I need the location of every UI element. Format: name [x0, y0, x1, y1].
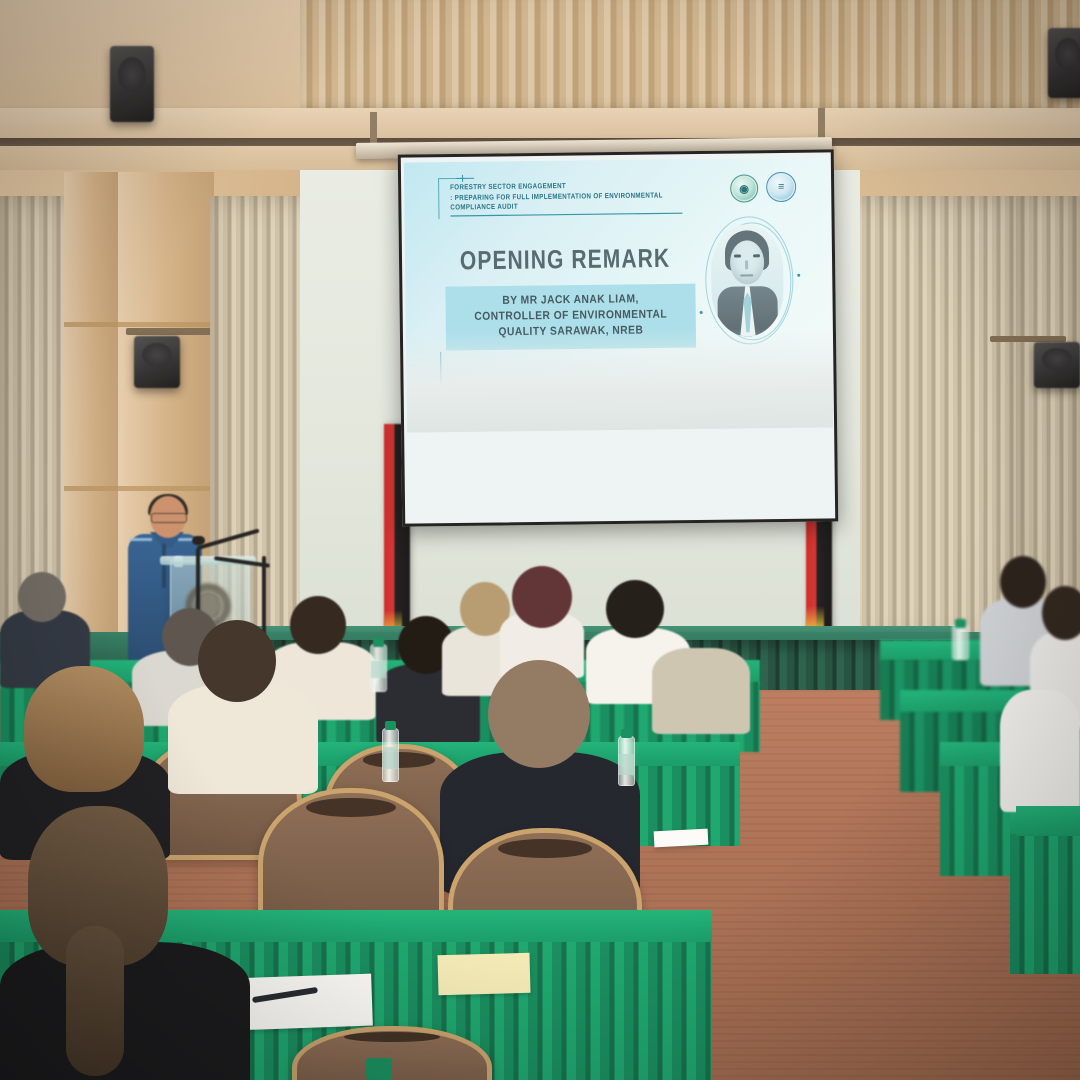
mineral-water-bottle — [382, 728, 399, 782]
slide-header: FORESTRY SECTOR ENGAGEMENT : PREPARING F… — [450, 180, 710, 216]
audience-table-skirt — [1010, 834, 1080, 974]
chair-handle-slot — [363, 752, 435, 767]
projection-screen: FORESTRY SECTOR ENGAGEMENT : PREPARING F… — [398, 149, 839, 526]
audience-member-body — [1000, 690, 1080, 812]
audience-member-foreground — [0, 806, 250, 1080]
wall-mounted-loudspeaker — [110, 46, 154, 122]
audience-member-head — [198, 620, 276, 702]
agency-logo: ≡ — [766, 172, 796, 202]
portrait-of-speaker — [711, 224, 784, 337]
presenter-sleeve-trim — [130, 538, 152, 541]
slide-tick-mark — [456, 178, 474, 180]
bottle-cap — [385, 721, 396, 730]
audience-member-ponytail — [66, 926, 124, 1076]
portrait-eye — [753, 254, 760, 257]
bottle-label — [619, 754, 634, 775]
chair-handle-slot — [306, 798, 395, 817]
yellow-notepad — [437, 953, 530, 995]
audience-member — [168, 620, 318, 790]
wall-mounted-loudspeaker — [134, 336, 180, 388]
portrait-eye — [734, 254, 741, 257]
bottle-label — [383, 747, 398, 769]
agency-logo-glyph: ≡ — [767, 173, 795, 201]
slide-header-line1: FORESTRY SECTOR ENGAGEMENT — [450, 182, 566, 192]
audience-member-head — [18, 572, 66, 622]
mineral-water-bottle — [618, 736, 635, 786]
audience-member — [652, 604, 750, 730]
banquet-chair[interactable] — [292, 1026, 492, 1080]
nreb-logo-glyph: ◉ — [731, 175, 757, 201]
ceiling-beam — [0, 108, 1080, 142]
slide-header-line2: : PREPARING FOR FULL IMPLEMENTATION OF E… — [450, 191, 682, 216]
nreb-logo: ◉ — [730, 174, 758, 202]
bottle-label — [371, 661, 386, 678]
bottle-cap — [621, 729, 632, 738]
chair-handle-slot — [498, 839, 591, 859]
portrait-dot-marker — [700, 311, 703, 314]
audience-member — [500, 566, 584, 674]
chair-handle-slot — [344, 1032, 440, 1042]
glasses-icon — [151, 513, 187, 523]
pilaster-trim — [64, 322, 214, 327]
bottle-cap — [366, 1058, 392, 1080]
white-paper-sheet — [654, 829, 709, 848]
slide-title: OPENING REMARK — [449, 244, 681, 277]
portrait-nose — [745, 260, 748, 269]
audience-member-body — [652, 648, 750, 734]
audience-member-hair — [24, 666, 144, 792]
wall-mounted-loudspeaker — [1048, 28, 1080, 98]
audience-member — [1000, 660, 1080, 810]
slide-lower-fade — [406, 327, 833, 432]
right-foreground-table — [1016, 806, 1080, 836]
wall-mounted-loudspeaker — [1034, 342, 1080, 388]
bottle-cap — [373, 638, 384, 647]
microphone-head — [192, 536, 205, 545]
speaker-bracket — [126, 328, 212, 335]
bottle-cap — [955, 619, 966, 628]
audience-member-head — [1042, 586, 1080, 640]
mineral-water-bottle — [370, 644, 387, 692]
ceiling-wood-slats — [300, 0, 1080, 112]
audience-member-head — [512, 566, 572, 628]
pilaster-trim — [64, 486, 214, 491]
audience-member-head — [488, 660, 590, 768]
presentation-slide: FORESTRY SECTOR ENGAGEMENT : PREPARING F… — [404, 157, 833, 432]
slide-subtitle-line2: CONTROLLER OF ENVIRONMENTAL — [450, 307, 692, 326]
portrait-mouth — [740, 274, 753, 276]
portrait-dot-marker — [797, 274, 800, 277]
presenter-placket — [162, 544, 166, 588]
mineral-water-bottle — [952, 624, 969, 660]
conference-hall-photo: FORESTRY SECTOR ENGAGEMENT : PREPARING F… — [0, 0, 1080, 1080]
